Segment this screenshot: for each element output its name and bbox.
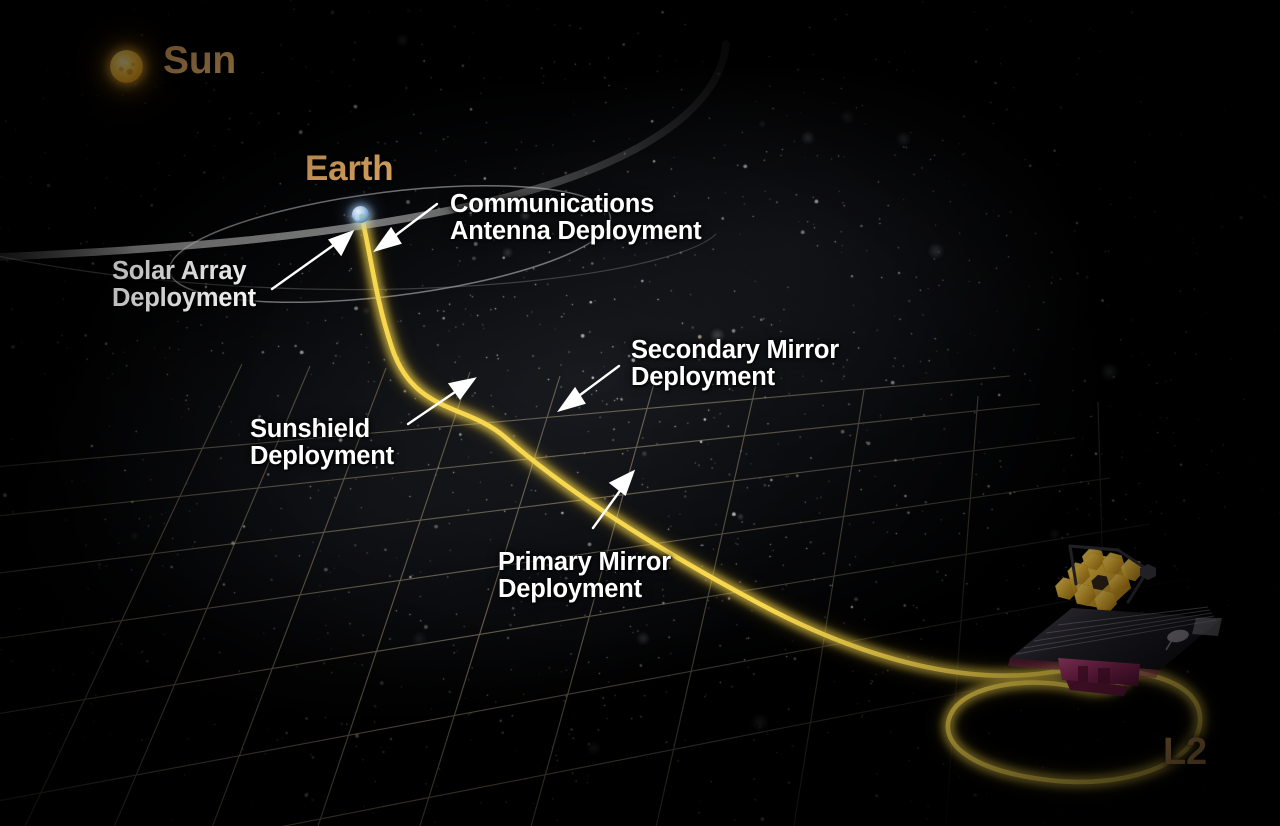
annotation-primary-mirror: Primary Mirror Deployment — [498, 549, 671, 603]
spacecraft-bus — [1058, 658, 1140, 696]
diagram-canvas: Sun Earth L2 Solar Array Deployment Comm… — [0, 0, 1280, 826]
earth-icon — [352, 206, 369, 223]
annotation-sunshield: Sunshield Deployment — [250, 416, 394, 470]
sun-icon — [110, 50, 143, 83]
l2-label: L2 — [1163, 732, 1207, 772]
sun-label: Sun — [163, 40, 236, 81]
annotation-secondary-mirror: Secondary Mirror Deployment — [631, 337, 839, 391]
jwst-spacecraft — [1000, 540, 1230, 705]
annotation-arrows — [272, 204, 633, 528]
annotation-communications-antenna: Communications Antenna Deployment — [450, 191, 701, 245]
earth-label: Earth — [305, 150, 393, 187]
annotation-solar-array: Solar Array Deployment — [112, 258, 256, 312]
